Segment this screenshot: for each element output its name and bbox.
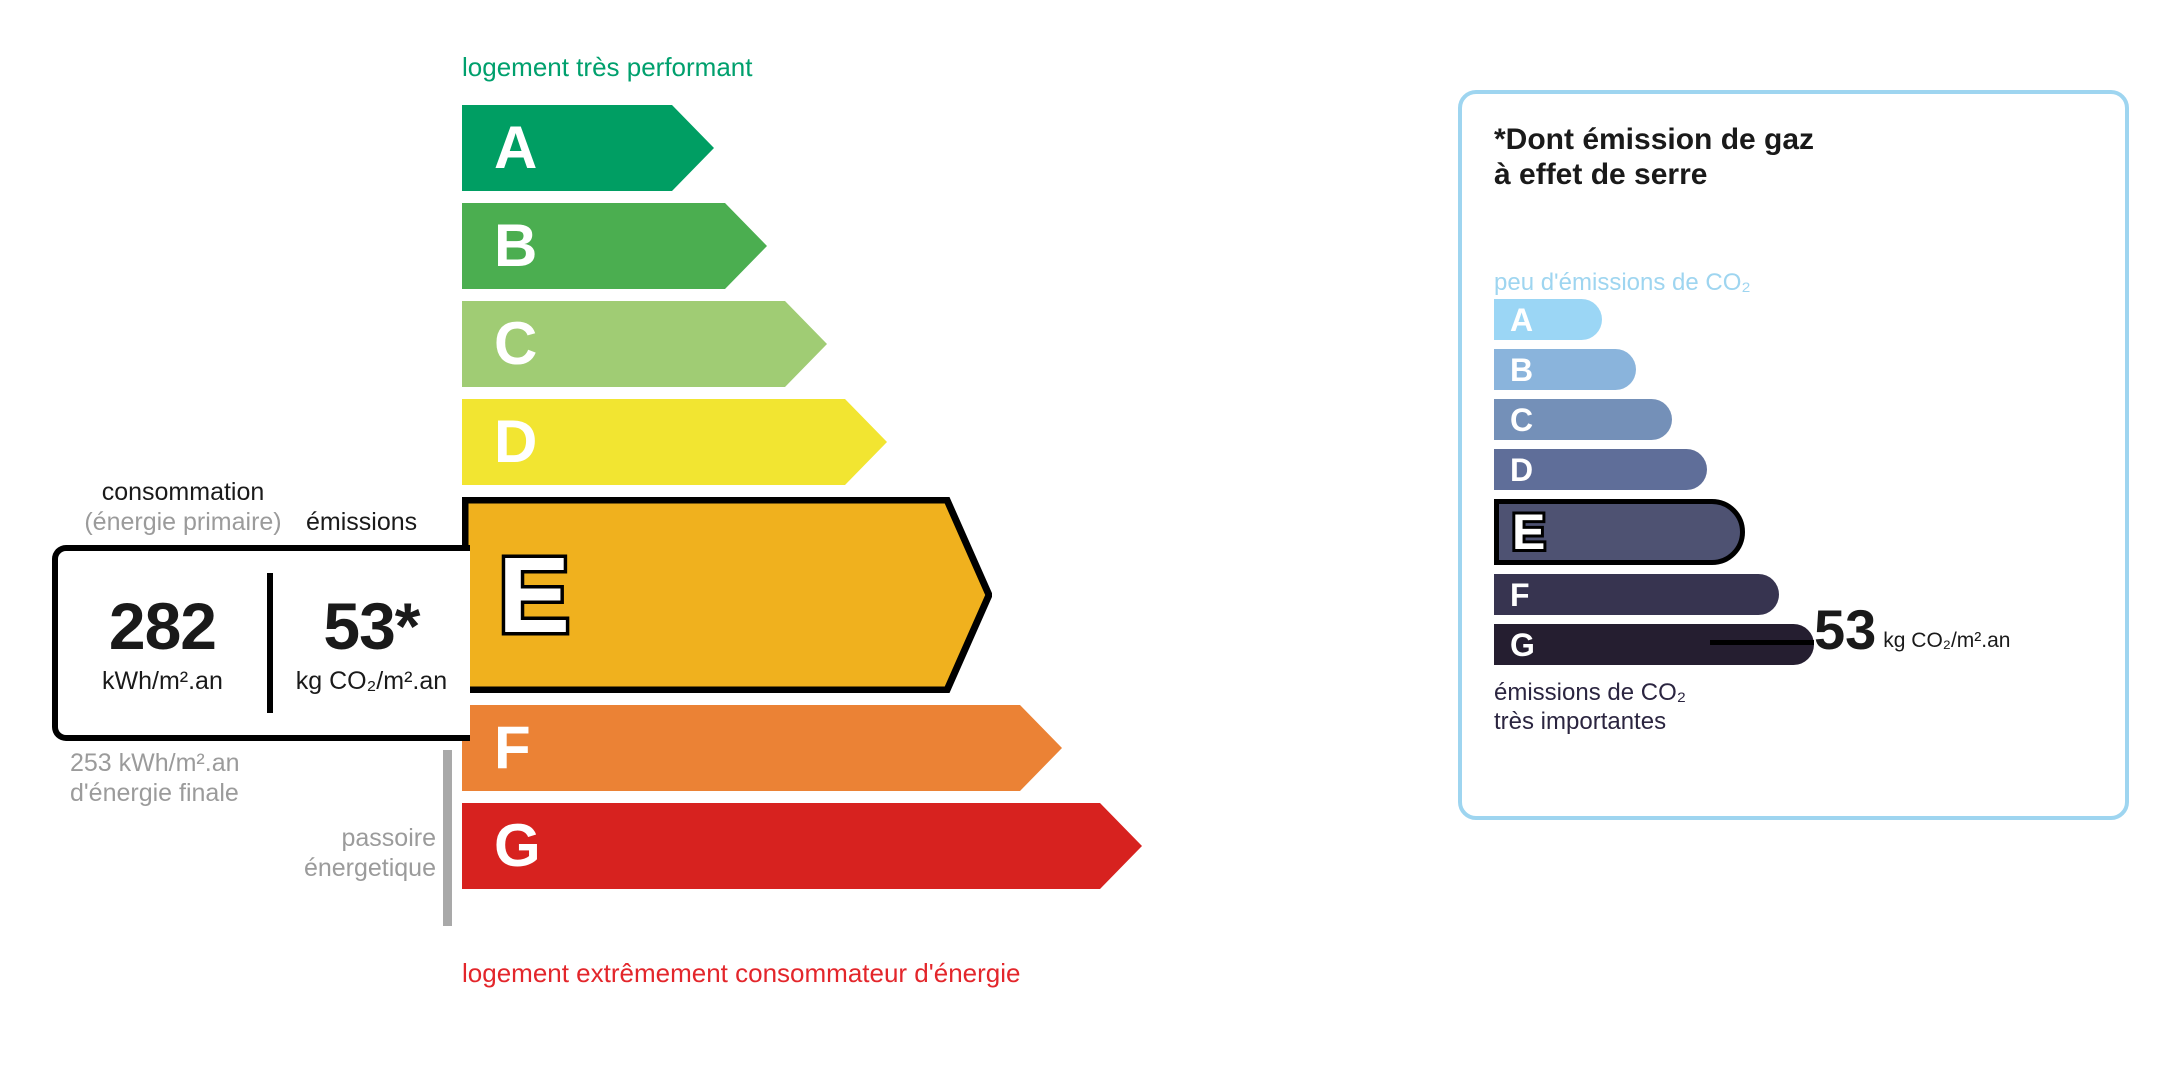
final-energy-line2: d'énergie finale bbox=[70, 778, 240, 808]
consumption-value: 282 bbox=[109, 593, 216, 659]
co2-callout-unit: kg CO₂/m².an bbox=[1883, 630, 2010, 651]
consumption-value-cell: 282 kWh/m².an bbox=[58, 551, 267, 735]
co2-subtitle: peu d'émissions de CO₂ bbox=[1494, 269, 1751, 297]
consumption-label-sub: (énergie primaire) bbox=[68, 508, 298, 538]
co2-bar-f bbox=[1494, 574, 1779, 615]
passoire-label: passoire énergetique bbox=[236, 823, 436, 883]
passoire-line1: passoire bbox=[236, 823, 436, 853]
co2-emissions-panel: *Dont émission de gaz à effet de serre p… bbox=[1458, 90, 2129, 820]
consumption-unit: kWh/m².an bbox=[102, 669, 223, 694]
co2-footer-line2: très importantes bbox=[1494, 708, 1686, 737]
consumption-label-main: consommation bbox=[68, 478, 298, 508]
energy-performance-diagram: logement très performant A B bbox=[0, 0, 1390, 1079]
co2-callout: 53 kg CO₂/m².an bbox=[1814, 602, 2010, 658]
grade-letter-d: D bbox=[494, 412, 537, 472]
grade-letter-a: A bbox=[494, 118, 537, 178]
scale-caption-top: logement très performant bbox=[462, 52, 752, 83]
arrow-shape-f bbox=[462, 705, 1062, 791]
values-box: 282 kWh/m².an 53* kg CO₂/m².an bbox=[52, 545, 470, 741]
passoire-bracket-bar bbox=[443, 750, 452, 926]
grade-letter-b: B bbox=[494, 216, 537, 276]
co2-grade-letter-a: A bbox=[1510, 304, 1533, 336]
grade-letter-f: F bbox=[494, 718, 531, 778]
consumption-label: consommation (énergie primaire) bbox=[68, 478, 298, 537]
co2-grade-letter-f: F bbox=[1510, 579, 1530, 611]
co2-grade-letter-b: B bbox=[1510, 354, 1533, 386]
co2-title-line1: *Dont émission de gaz bbox=[1494, 122, 1814, 157]
co2-callout-value: 53 bbox=[1814, 602, 1876, 658]
co2-grade-letter-c: C bbox=[1510, 404, 1533, 436]
co2-footer-label: émissions de CO₂ très importantes bbox=[1494, 679, 1686, 737]
co2-grade-letter-d: D bbox=[1510, 454, 1533, 486]
passoire-line2: énergetique bbox=[236, 853, 436, 883]
emission-unit: kg CO₂/m².an bbox=[296, 669, 447, 694]
emission-value: 53* bbox=[323, 593, 419, 659]
grade-letter-g: G bbox=[494, 816, 541, 876]
arrow-shape-g bbox=[462, 803, 1142, 889]
grade-letter-e: E bbox=[498, 541, 570, 649]
co2-panel-title: *Dont émission de gaz à effet de serre bbox=[1494, 122, 1814, 193]
final-energy-note: 253 kWh/m².an d'énergie finale bbox=[70, 748, 240, 808]
callout-leader-line bbox=[1710, 640, 1814, 645]
co2-title-line2: à effet de serre bbox=[1494, 157, 1814, 192]
co2-grade-letter-g: G bbox=[1510, 629, 1535, 661]
final-energy-line1: 253 kWh/m².an bbox=[70, 748, 240, 778]
scale-caption-bottom: logement extrêmement consommateur d'éner… bbox=[462, 958, 1020, 989]
grade-letter-c: C bbox=[494, 314, 537, 374]
co2-footer-line1: émissions de CO₂ bbox=[1494, 679, 1686, 708]
emissions-label: émissions bbox=[306, 508, 417, 537]
co2-grade-letter-e: E bbox=[1512, 507, 1545, 557]
emission-value-cell: 53* kg CO₂/m².an bbox=[273, 551, 470, 735]
